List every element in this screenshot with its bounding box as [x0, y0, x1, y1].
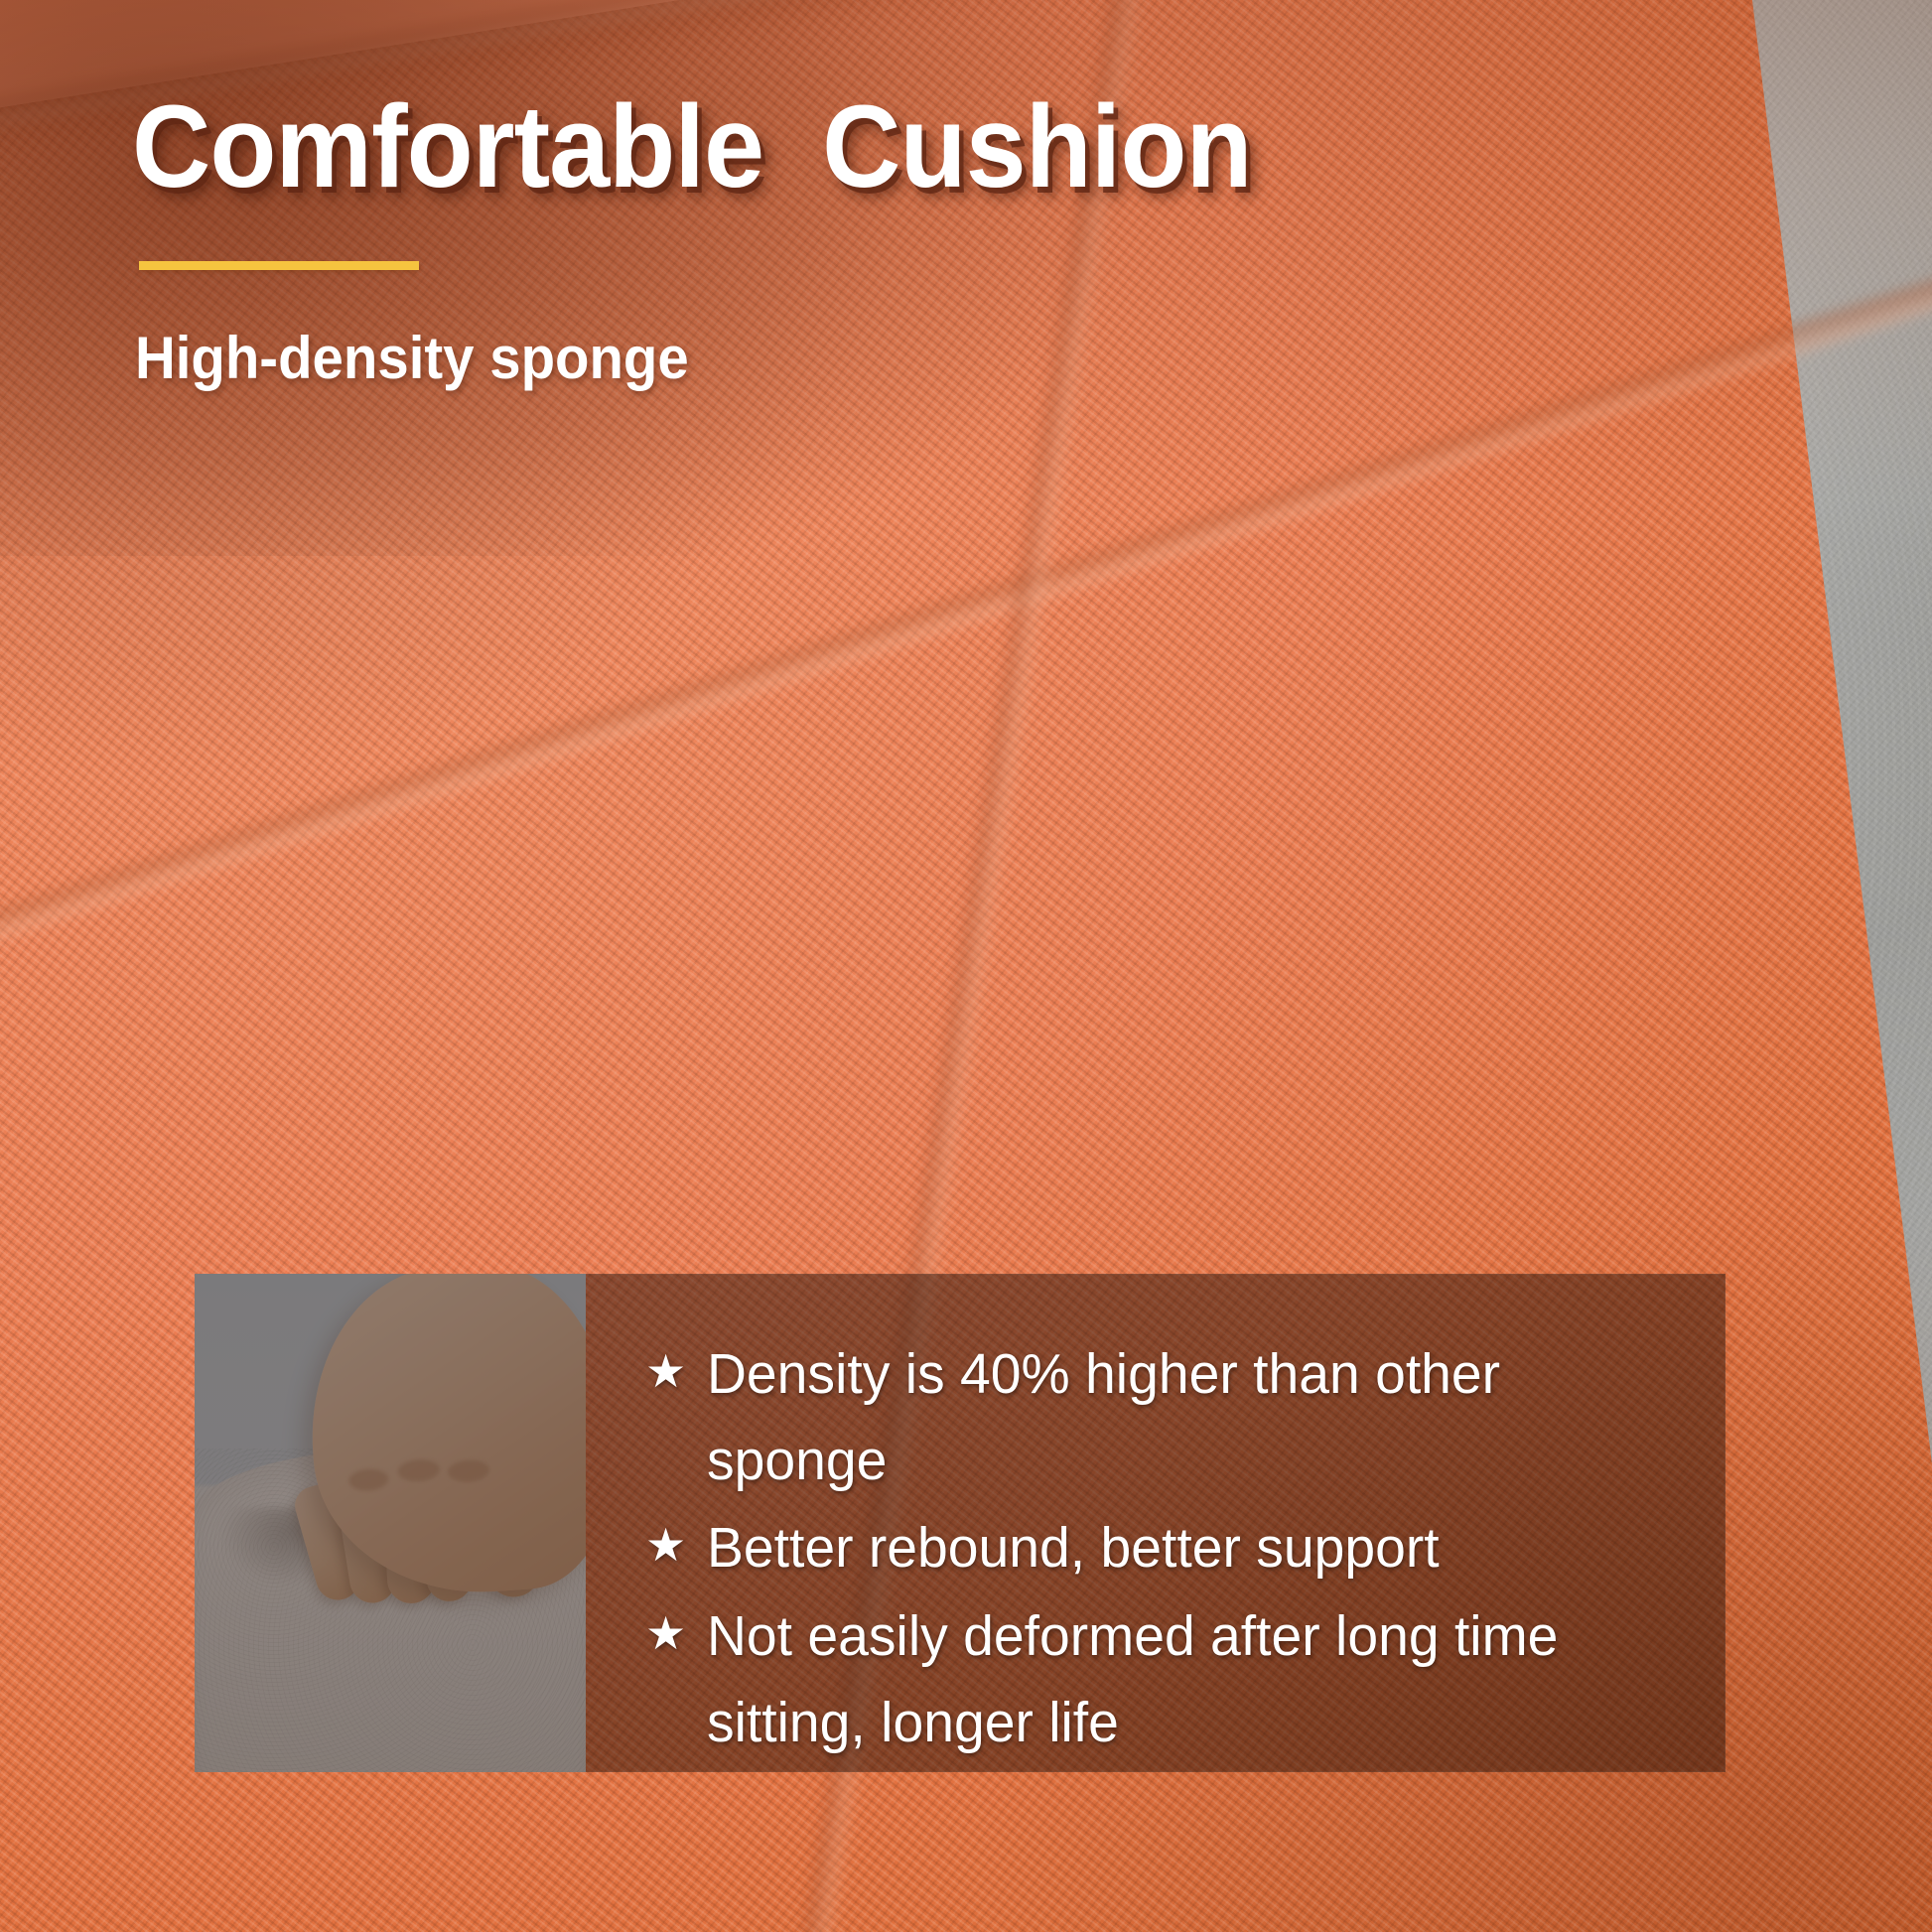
- feature-panel: ★ Density is 40% higher than other spong…: [195, 1274, 1725, 1772]
- list-item: ★ Not easily deformed after long time si…: [645, 1593, 1692, 1765]
- star-bullet-icon: ★: [645, 1505, 707, 1587]
- feature-bullet-list: ★ Density is 40% higher than other spong…: [586, 1274, 1725, 1772]
- knuckle-3: [447, 1458, 489, 1483]
- star-bullet-icon: ★: [645, 1331, 707, 1413]
- list-item-label: Density is 40% higher than other sponge: [707, 1331, 1662, 1503]
- list-item: ★ Density is 40% higher than other spong…: [645, 1331, 1692, 1503]
- foam-press-inset-photo: [195, 1274, 586, 1772]
- knuckle-2: [397, 1458, 440, 1483]
- headline-block: Comfortable Cushion High-density sponge: [132, 85, 1621, 391]
- page-subtitle: High-density sponge: [135, 326, 1532, 391]
- product-feature-image: Comfortable Cushion High-density sponge …: [0, 0, 1932, 1932]
- list-item: ★ Better rebound, better support: [645, 1505, 1692, 1591]
- knuckle-1: [348, 1467, 389, 1492]
- title-underline-rule: [139, 261, 419, 270]
- list-item-label: Not easily deformed after long time sitt…: [707, 1593, 1662, 1765]
- star-bullet-icon: ★: [645, 1593, 707, 1675]
- list-item-label: Better rebound, better support: [707, 1505, 1662, 1591]
- page-title: Comfortable Cushion: [132, 85, 1517, 209]
